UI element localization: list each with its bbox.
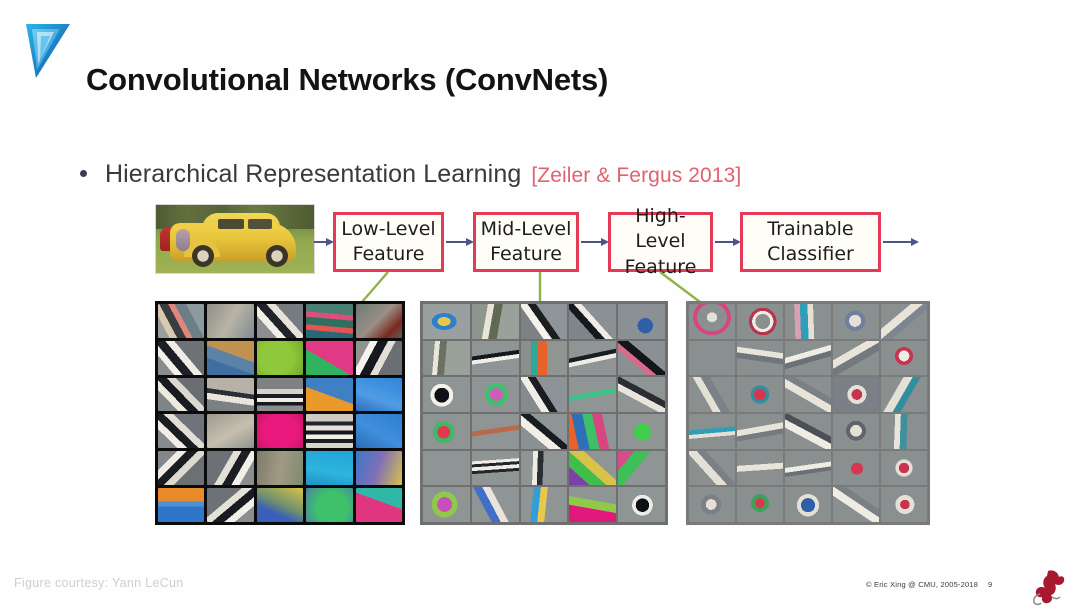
feature-cell (785, 341, 831, 376)
feature-cell (737, 451, 783, 486)
feature-cell (569, 414, 616, 449)
bullet-citation: [Zeiler & Fergus 2013] (531, 164, 741, 188)
feature-cell (306, 451, 352, 485)
feature-cell (569, 304, 616, 339)
arrow-low-to-mid (446, 241, 472, 243)
feature-cell (257, 451, 303, 485)
feature-cell (833, 341, 879, 376)
slide-canvas: Convolutional Networks (ConvNets) Hierar… (0, 0, 1080, 608)
feature-cell (689, 451, 735, 486)
bullet-dot-icon (80, 170, 87, 177)
feature-cell (423, 304, 470, 339)
page-title: Convolutional Networks (ConvNets) (86, 62, 608, 98)
feature-cell (689, 377, 735, 412)
photo-car-window-front (218, 219, 244, 229)
feature-cell (881, 487, 927, 522)
feature-cell (618, 304, 665, 339)
feature-cell (689, 304, 735, 339)
feature-cell (689, 487, 735, 522)
feature-cell (306, 378, 352, 412)
feature-cell (306, 341, 352, 375)
page-number: 9 (988, 580, 992, 589)
feature-cell (423, 451, 470, 486)
photo-car-wheel-rear (266, 245, 288, 267)
stage-box-low-level[interactable]: Low-Level Feature (333, 212, 444, 272)
feature-cell (569, 451, 616, 486)
feature-cell (257, 341, 303, 375)
stage-label-line1: Mid-Level (481, 217, 572, 242)
feature-cell (257, 414, 303, 448)
feature-cell (881, 451, 927, 486)
feature-cell (833, 414, 879, 449)
feature-cell (356, 414, 402, 448)
photo-car-window-rear (248, 219, 272, 229)
feature-cell (257, 378, 303, 412)
feature-cell (618, 341, 665, 376)
feature-cell (257, 488, 303, 522)
feature-cell (833, 451, 879, 486)
feature-grid-mid-level (420, 301, 668, 525)
feature-cell (521, 304, 568, 339)
feature-cell (737, 414, 783, 449)
stage-label-line2: Feature (353, 242, 425, 267)
feature-cell (618, 487, 665, 522)
feature-cell (785, 451, 831, 486)
photo-car-wheel-front (192, 245, 214, 267)
feature-cell (689, 341, 735, 376)
feature-cell (257, 304, 303, 338)
feature-cell (569, 487, 616, 522)
feature-cell (737, 487, 783, 522)
feature-cell (158, 451, 204, 485)
feature-cell (207, 378, 253, 412)
feature-cell (158, 304, 204, 338)
feature-cell (785, 377, 831, 412)
feature-cell (472, 341, 519, 376)
feature-cell (472, 414, 519, 449)
feature-grid-low-level (155, 301, 405, 525)
feature-cell (618, 414, 665, 449)
stage-label-line2: Classifier (767, 242, 854, 267)
feature-cell (158, 341, 204, 375)
feature-cell (833, 377, 879, 412)
bullet-text: Hierarchical Representation Learning (105, 160, 521, 189)
feature-cell (207, 488, 253, 522)
feature-cell (472, 377, 519, 412)
stage-box-high-level[interactable]: High-Level Feature (608, 212, 713, 272)
feature-cell (521, 451, 568, 486)
feature-cell (618, 451, 665, 486)
stage-box-mid-level[interactable]: Mid-Level Feature (473, 212, 579, 272)
stage-label-line1: Trainable (767, 217, 853, 242)
stage-label-line2: Feature (625, 255, 697, 280)
stage-label-line2: Feature (490, 242, 562, 267)
feature-cell (569, 341, 616, 376)
cmu-scotty-logo-icon (1028, 568, 1068, 606)
feature-cell (423, 487, 470, 522)
feature-cell (207, 451, 253, 485)
feature-cell (785, 487, 831, 522)
feature-cell (689, 414, 735, 449)
feature-cell (521, 341, 568, 376)
feature-cell (785, 304, 831, 339)
feature-cell (785, 414, 831, 449)
bullet-row: Hierarchical Representation Learning [Ze… (80, 160, 741, 189)
feature-cell (737, 377, 783, 412)
feature-cell (521, 377, 568, 412)
feature-cell (356, 488, 402, 522)
stage-label-line1: High-Level (611, 204, 710, 254)
arrow-classifier-output (883, 241, 917, 243)
feature-cell (521, 487, 568, 522)
arrow-high-to-classifier (715, 241, 739, 243)
feature-cell (833, 487, 879, 522)
copyright-note: © Eric Xing @ CMU, 2005-2018 (866, 580, 978, 589)
feature-cell (207, 414, 253, 448)
feature-cell (207, 304, 253, 338)
feature-cell (737, 341, 783, 376)
feature-cell (158, 488, 204, 522)
feature-cell (423, 341, 470, 376)
feature-cell (881, 414, 927, 449)
feature-grid-high-level (686, 301, 930, 525)
feature-cell (521, 414, 568, 449)
figure-courtesy-note: Figure courtesy: Yann LeCun (14, 576, 184, 590)
feature-cell (833, 304, 879, 339)
feature-cell (569, 377, 616, 412)
feature-cell (158, 414, 204, 448)
feature-cell (881, 377, 927, 412)
feature-cell (356, 451, 402, 485)
feature-cell (306, 304, 352, 338)
feature-cell (423, 414, 470, 449)
feature-cell (356, 378, 402, 412)
stage-box-trainable-classifier[interactable]: Trainable Classifier (740, 212, 881, 272)
feature-cell (306, 414, 352, 448)
feature-cell (618, 377, 665, 412)
photo-car-grille (176, 229, 190, 251)
arrow-mid-to-high (581, 241, 607, 243)
feature-cell (472, 304, 519, 339)
feature-cell (737, 304, 783, 339)
feature-cell (881, 341, 927, 376)
feature-cell (356, 341, 402, 375)
feature-cell (207, 341, 253, 375)
feature-cell (306, 488, 352, 522)
feature-cell (423, 377, 470, 412)
feature-cell (158, 378, 204, 412)
stage-label-line1: Low-Level (341, 217, 435, 242)
input-image-car-photo (155, 204, 315, 274)
connector-low-to-grid (362, 272, 388, 302)
feature-cell (472, 451, 519, 486)
feature-cell (472, 487, 519, 522)
brand-logo-icon (10, 12, 80, 84)
feature-cell (356, 304, 402, 338)
feature-cell (881, 304, 927, 339)
arrow-input-to-low (314, 241, 332, 243)
